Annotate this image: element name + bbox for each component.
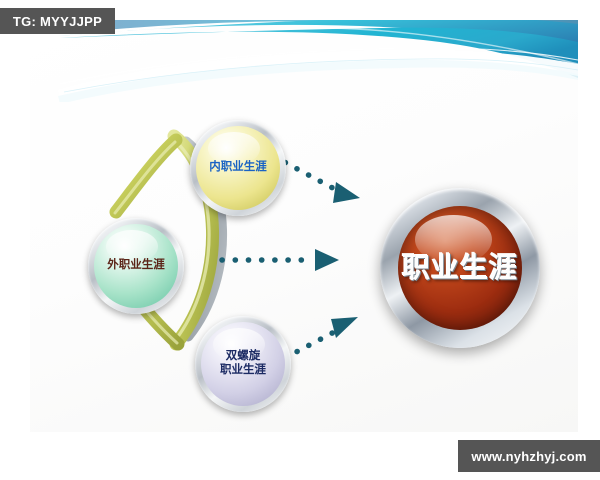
sphere-label: 内职业生涯 (209, 161, 267, 175)
screenshot-stage: 内职业生涯 外职业生涯 双螺旋 职业生涯 职业生涯 TG: MYYJJPP ww… (0, 0, 600, 480)
sphere-label: 外职业生涯 (107, 259, 165, 273)
sphere-core: 内职业生涯 (196, 126, 280, 210)
sphere-double-helix-career[interactable]: 双螺旋 职业生涯 (195, 316, 291, 412)
sphere-core: 外职业生涯 (94, 224, 178, 308)
slide-canvas: 内职业生涯 外职业生涯 双螺旋 职业生涯 职业生涯 (30, 20, 578, 432)
sphere-inner-career[interactable]: 内职业生涯 (190, 120, 286, 216)
sphere-label: 双螺旋 职业生涯 (220, 350, 266, 377)
sphere-label: 职业生涯 (402, 251, 518, 284)
sphere-outer-career[interactable]: 外职业生涯 (88, 218, 184, 314)
arrow-outer-to-main (222, 249, 339, 271)
tg-badge: TG: MYYJJPP (0, 8, 115, 34)
sphere-core: 双螺旋 职业生涯 (201, 322, 285, 406)
sphere-career[interactable]: 职业生涯 (380, 188, 540, 348)
site-watermark: www.nyhzhyj.com (458, 440, 600, 472)
sphere-core: 职业生涯 (398, 206, 522, 330)
